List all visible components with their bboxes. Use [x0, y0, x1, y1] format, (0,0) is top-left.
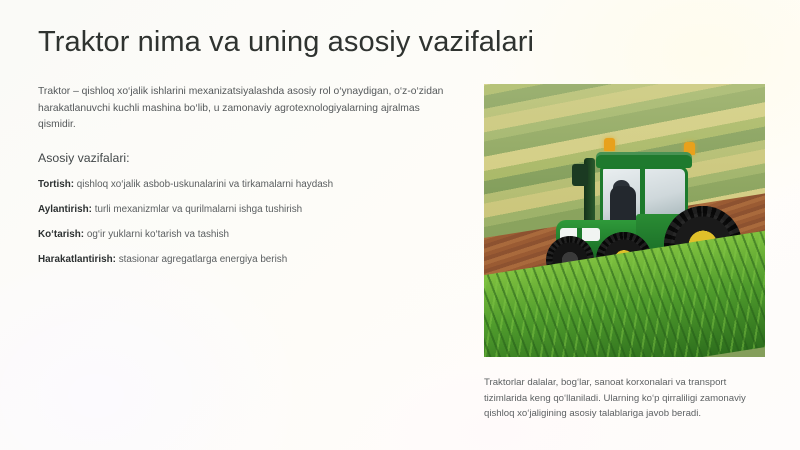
figure-caption: Traktorlar dalalar, bog‘lar, sanoat korx…	[484, 375, 765, 422]
beacon-light-left-icon	[604, 138, 615, 151]
task-description: og‘ir yuklarni ko‘tarish va tashish	[87, 229, 229, 240]
list-item: Ko‘tarish: og‘ir yuklarni ko‘tarish va t…	[38, 228, 450, 242]
task-term: Harakatlantirish:	[38, 254, 116, 265]
task-description: qishloq xo‘jalik asbob-uskunalarini va t…	[77, 179, 333, 190]
task-term: Aylantirish:	[38, 204, 92, 215]
side-mirror	[572, 164, 588, 186]
task-description: stasionar agregatlarga energiya berish	[119, 254, 288, 265]
list-item: Aylantirish: turli mexanizmlar va qurilm…	[38, 203, 450, 217]
tasks-list: Tortish: qishloq xo‘jalik asbob-uskunala…	[38, 178, 450, 267]
slide-root: Traktor nima va uning asosiy vazifalari …	[0, 0, 800, 450]
task-description: turli mexanizmlar va qurilmalarni ishga …	[95, 204, 302, 215]
task-term: Ko‘tarish:	[38, 229, 84, 240]
tractor-photo	[484, 84, 765, 357]
page-title: Traktor nima va uning asosiy vazifalari	[38, 26, 534, 59]
figure: Traktorlar dalalar, bog‘lar, sanoat korx…	[484, 84, 765, 422]
list-item: Harakatlantirish: stasionar agregatlarga…	[38, 253, 450, 267]
tasks-subheading: Asosiy vazifalari:	[38, 151, 450, 165]
task-term: Tortish:	[38, 179, 74, 190]
intro-paragraph: Traktor – qishloq xo‘jalik ishlarini mex…	[38, 84, 450, 134]
text-column: Traktor – qishloq xo‘jalik ishlarini mex…	[38, 84, 450, 278]
list-item: Tortish: qishloq xo‘jalik asbob-uskunala…	[38, 178, 450, 192]
